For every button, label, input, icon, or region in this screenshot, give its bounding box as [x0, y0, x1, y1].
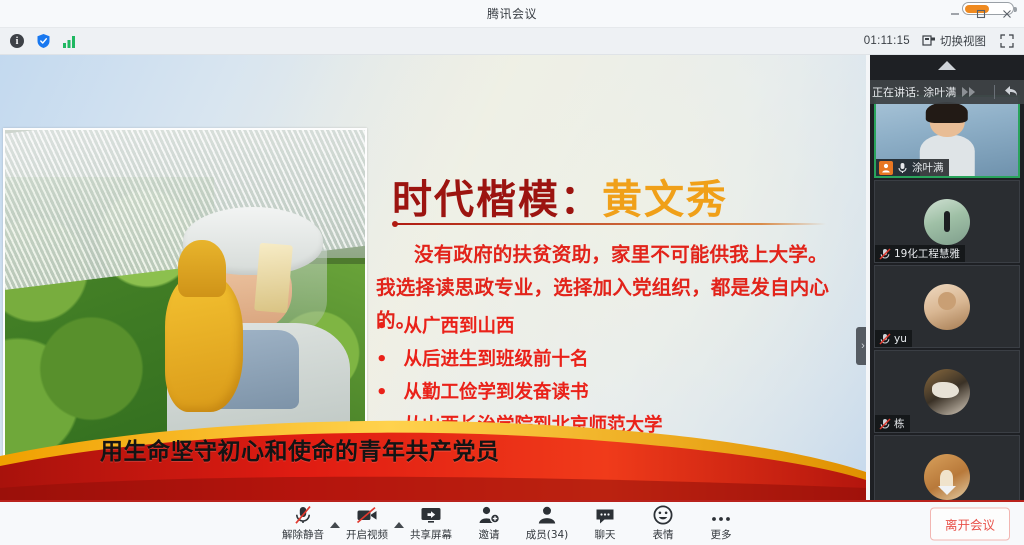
more-icon: [710, 505, 732, 525]
participant-label-0: 涂叶满: [876, 159, 949, 176]
switch-view-button[interactable]: 切换视图: [922, 33, 986, 49]
emoji-icon: [653, 505, 673, 525]
speaking-indicator: 正在讲话: 涂叶满: [870, 80, 1024, 104]
collapse-panel-handle[interactable]: ›: [856, 327, 866, 365]
chat-label: 聊天: [595, 527, 616, 542]
emoji-button[interactable]: 表情: [634, 505, 692, 542]
scroll-down-arrow[interactable]: [870, 482, 1024, 498]
close-icon[interactable]: [994, 1, 1020, 27]
start-video-label: 开启视频: [346, 527, 388, 542]
share-screen-label: 共享屏幕: [410, 527, 452, 542]
mic-on-icon: [896, 161, 909, 174]
video-off-icon: [356, 505, 378, 525]
title-bar: 腾讯会议: [0, 0, 1024, 28]
mic-muted-icon: [878, 417, 891, 430]
participant-tile-1[interactable]: 19化工程慧雅: [874, 180, 1020, 263]
bullet-marker: •: [376, 343, 388, 376]
app-title: 腾讯会议: [487, 5, 537, 22]
share-screen-button[interactable]: 共享屏幕: [402, 505, 460, 542]
speaking-label: 正在讲话: 涂叶满: [872, 84, 956, 100]
participant-tile-3[interactable]: 栋: [874, 350, 1020, 433]
shared-screen-stage: 北京师范大学 时代楷模：黄文秀 没有政府的扶贫资助，家里不可能供我上大学。我选择…: [0, 55, 866, 500]
banner-text: 用生命坚守初心和使命的青年共产党员: [100, 432, 500, 466]
invite-button[interactable]: 邀请: [460, 505, 518, 542]
slide-title-accent: 黄文秀: [602, 177, 728, 223]
window-controls: [942, 0, 1020, 28]
mic-muted-icon: [878, 247, 891, 260]
meeting-timer: 01:11:15: [864, 35, 910, 47]
scroll-up-arrow[interactable]: [870, 57, 1024, 73]
slide-title: 时代楷模：黄文秀: [392, 167, 728, 225]
leave-meeting-button[interactable]: 离开会议: [930, 507, 1010, 540]
unmute-button[interactable]: 解除静音: [274, 505, 332, 542]
bullet-marker: •: [376, 376, 388, 409]
list-item: • 从勤工俭学到发奋读书: [376, 376, 846, 409]
more-button[interactable]: 更多: [692, 505, 750, 542]
mic-muted-icon: [293, 505, 313, 525]
bullet-text: 从后进生到班级前十名: [404, 343, 589, 376]
mic-muted-icon: [878, 332, 891, 345]
back-arrow-icon[interactable]: [999, 85, 1018, 100]
title-divider: [394, 223, 826, 225]
participant-name-2: yu: [894, 333, 907, 345]
more-label: 更多: [711, 527, 732, 542]
minimize-icon[interactable]: [942, 1, 968, 27]
chevron-right-icon: [962, 87, 975, 97]
members-label: 成员(34): [526, 527, 569, 542]
participant-avatar-3: [924, 369, 970, 415]
slide-bottom-banner: 用生命坚守初心和使命的青年共产党员: [0, 410, 866, 500]
participant-name-3: 栋: [894, 416, 905, 431]
meeting-control-bar: 解除静音 开启视频: [0, 500, 1024, 545]
chat-button[interactable]: 聊天: [576, 505, 634, 542]
switch-view-icon: [922, 34, 936, 48]
signal-icon[interactable]: [60, 32, 78, 50]
fullscreen-icon[interactable]: [998, 32, 1016, 50]
bullet-text: 从广西到山西: [404, 310, 515, 343]
meeting-window: 腾讯会议 i: [0, 0, 1024, 545]
slide-title-primary: 时代楷模：: [392, 177, 602, 223]
participant-avatar-2: [924, 284, 970, 330]
share-screen-icon: [420, 505, 442, 525]
participant-label-2: yu: [875, 330, 912, 347]
participant-name-1: 19化工程慧雅: [894, 246, 960, 261]
participant-tile-2[interactable]: yu: [874, 265, 1020, 348]
participant-label-1: 19化工程慧雅: [875, 245, 965, 262]
invite-label: 邀请: [479, 527, 500, 542]
chat-icon: [595, 505, 615, 525]
participant-avatar-1: [924, 199, 970, 245]
unmute-label: 解除静音: [282, 527, 324, 542]
host-badge-icon: [879, 161, 893, 175]
bullet-text: 从勤工俭学到发奋读书: [404, 376, 589, 409]
shield-icon[interactable]: [34, 32, 52, 50]
members-button[interactable]: 成员(34): [518, 505, 576, 542]
participant-name-0: 涂叶满: [912, 160, 944, 175]
info-icon[interactable]: i: [8, 32, 26, 50]
participant-tiles: 涂叶满 19化工程慧雅: [870, 95, 1024, 500]
maximize-icon[interactable]: [968, 1, 994, 27]
participant-tile-0[interactable]: 涂叶满: [874, 95, 1020, 178]
participant-label-3: 栋: [875, 415, 910, 432]
participant-video-panel: 正在讲话: 涂叶满: [870, 55, 1024, 500]
list-item: • 从后进生到班级前十名: [376, 343, 846, 376]
members-icon: [537, 505, 557, 525]
presentation-slide: 北京师范大学 时代楷模：黄文秀 没有政府的扶贫资助，家里不可能供我上大学。我选择…: [0, 55, 866, 500]
bullet-marker: •: [376, 310, 388, 343]
emoji-label: 表情: [653, 527, 674, 542]
switch-view-label: 切换视图: [940, 33, 986, 49]
invite-icon: [478, 505, 500, 525]
meeting-toolbar: i 01:11:15: [0, 28, 1024, 55]
start-video-button[interactable]: 开启视频: [338, 505, 396, 542]
list-item: • 从广西到山西: [376, 310, 846, 343]
